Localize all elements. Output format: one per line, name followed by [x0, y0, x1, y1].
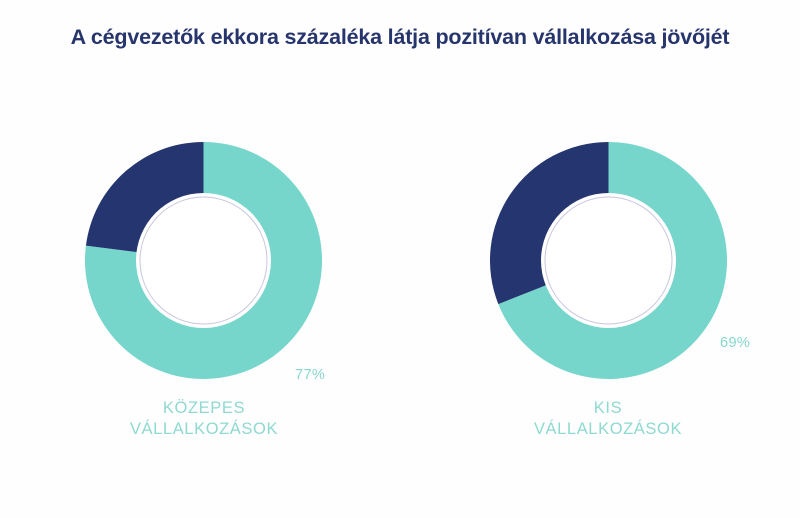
value-label-kis: 69% [720, 335, 750, 351]
donut-svg-kozepes [85, 142, 322, 379]
category-label-kis: KIS VÁLLALKOZÁSOK [458, 398, 758, 440]
category-label-kis-line1: KIS [458, 398, 758, 419]
donut-svg-kis [490, 142, 727, 379]
value-label-kozepes: 77% [295, 367, 325, 383]
category-label-kis-line2: VÁLLALKOZÁSOK [458, 419, 758, 440]
category-label-kozepes-line2: VÁLLALKOZÁSOK [54, 419, 354, 440]
category-label-kozepes: KÖZEPES VÁLLALKOZÁSOK [54, 398, 354, 440]
donut-chart-kis [490, 142, 727, 379]
donut-hole-kozepes [136, 193, 271, 328]
infographic-canvas: A cégvezetők ekkora százaléka látja pozi… [0, 0, 800, 518]
page-title: A cégvezetők ekkora százaléka látja pozi… [0, 25, 800, 50]
donut-chart-kozepes [85, 142, 322, 379]
donut-hole-kis [541, 193, 676, 328]
category-label-kozepes-line1: KÖZEPES [54, 398, 354, 419]
